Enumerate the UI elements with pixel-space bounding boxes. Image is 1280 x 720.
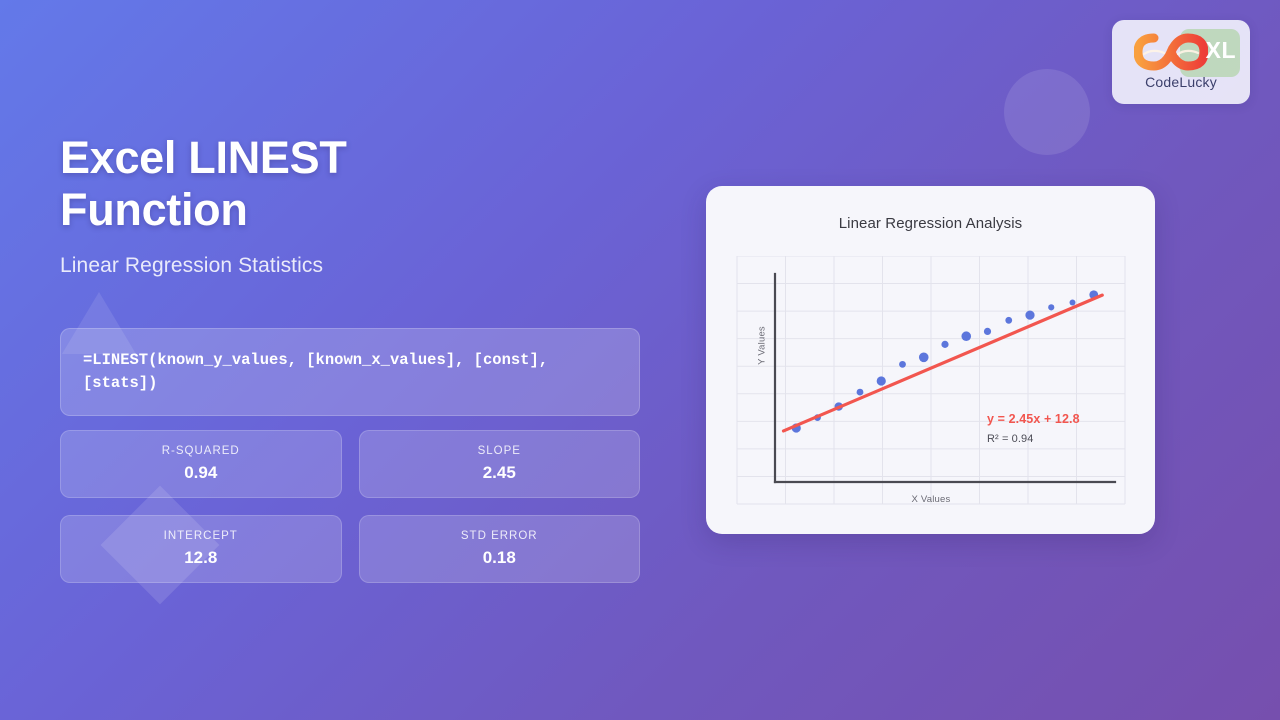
stat-label: SLOPE <box>478 445 521 457</box>
logo-brand-name: CodeLucky <box>1112 74 1250 90</box>
chart-axes <box>775 274 1115 482</box>
formula-box[interactable]: =LINEST(known_y_values, [known_x_values]… <box>60 328 640 416</box>
left-content-panel: Excel LINEST Function Linear Regression … <box>60 132 660 278</box>
chart-gridlines <box>737 256 1125 504</box>
stat-card-std-error[interactable]: STD ERROR 0.18 <box>359 515 641 583</box>
page-subtitle: Linear Regression Statistics <box>60 254 660 278</box>
chart-card: Linear Regression Analysis Y Values X Va… <box>706 186 1155 534</box>
brand-logo-badge[interactable]: XL CodeLucky <box>1112 20 1250 104</box>
logo-xl-text: XL <box>1206 37 1236 64</box>
stat-card-intercept[interactable]: INTERCEPT 12.8 <box>60 515 342 583</box>
stat-label: STD ERROR <box>461 530 538 542</box>
chart-title: Linear Regression Analysis <box>706 215 1155 232</box>
formula-syntax-text: =LINEST(known_y_values, [known_x_values]… <box>83 349 617 395</box>
stat-label: INTERCEPT <box>164 530 238 542</box>
page-title: Excel LINEST Function <box>60 132 390 236</box>
stat-value: 0.18 <box>483 548 516 568</box>
decorative-circle <box>1004 69 1090 155</box>
infinity-icon <box>1134 30 1208 74</box>
stat-value: 12.8 <box>184 548 217 568</box>
scatter-plot: Y Values X Values y = 2.45x + 12.8 R² = … <box>735 256 1127 511</box>
stat-label: R-SQUARED <box>162 445 240 457</box>
regression-line <box>784 295 1103 431</box>
stat-card-slope[interactable]: SLOPE 2.45 <box>359 430 641 498</box>
scatter-plot-svg <box>735 256 1127 511</box>
stat-card-r-squared[interactable]: R-SQUARED 0.94 <box>60 430 342 498</box>
stats-grid: R-SQUARED 0.94 SLOPE 2.45 INTERCEPT 12.8… <box>60 430 640 583</box>
x-axis-label: X Values <box>735 494 1127 505</box>
y-axis-label: Y Values <box>757 311 768 381</box>
regression-equation-annotation: y = 2.45x + 12.8 <box>987 412 1080 426</box>
stat-value: 2.45 <box>483 463 516 483</box>
stat-value: 0.94 <box>184 463 217 483</box>
r-squared-annotation: R² = 0.94 <box>987 433 1033 445</box>
